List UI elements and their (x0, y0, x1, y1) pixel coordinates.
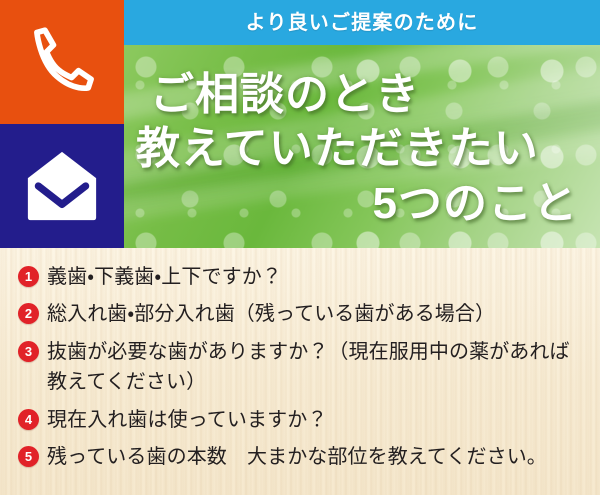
list-item: 1 義歯・下義歯・上下ですか？ (18, 262, 590, 292)
item-text: 抜歯が必要な歯がありますか？（現在服用中の薬があれば 教えてください） (47, 337, 590, 398)
item-number-badge: 2 (18, 303, 39, 324)
list-item: 3 抜歯が必要な歯がありますか？（現在服用中の薬があれば 教えてください） (18, 337, 590, 398)
item-text-line-2: 教えてください） (47, 367, 590, 397)
phone-handset-icon (24, 24, 100, 100)
phone-tile (0, 0, 124, 124)
eyebrow-bar: より良いご提案のために (124, 0, 600, 45)
hero-line-3: 5つのこと (136, 177, 584, 231)
item-number-badge: 3 (18, 341, 39, 362)
open-envelope-icon (20, 144, 104, 228)
dental-consultation-banner: より良いご提案のために ご相談のとき 教えていただきたい 5つのこと (0, 0, 600, 495)
question-list: 1 義歯・下義歯・上下ですか？ 2 総入れ歯・部分入れ歯（残っている歯がある場合… (0, 248, 600, 495)
item-number-badge: 5 (18, 446, 39, 467)
list-item: 5 残っている歯の本数 大まかな部位を教えてください。 (18, 442, 590, 472)
hero-title-block: ご相談のとき 教えていただきたい 5つのこと (124, 45, 600, 248)
item-number-badge: 1 (18, 266, 39, 287)
item-text: 残っている歯の本数 大まかな部位を教えてください。 (47, 442, 590, 472)
eyebrow-text: より良いご提案のために (246, 13, 479, 33)
item-text: 現在入れ歯は使っていますか？ (47, 405, 590, 435)
icon-column (0, 0, 124, 248)
hero-section: より良いご提案のために ご相談のとき 教えていただきたい 5つのこと (0, 0, 600, 248)
list-item: 2 総入れ歯・部分入れ歯（残っている歯がある場合） (18, 299, 590, 329)
hero-line-2: 教えていただきたい (136, 122, 584, 176)
list-item: 4 現在入れ歯は使っていますか？ (18, 405, 590, 435)
hero-line-1: ご相談のとき (136, 68, 584, 122)
mail-tile (0, 124, 124, 248)
item-text: 総入れ歯・部分入れ歯（残っている歯がある場合） (47, 299, 590, 329)
item-text-line-1: 抜歯が必要な歯がありますか？（現在服用中の薬があれば (47, 341, 570, 363)
item-number-badge: 4 (18, 409, 39, 430)
item-text: 義歯・下義歯・上下ですか？ (47, 262, 590, 292)
